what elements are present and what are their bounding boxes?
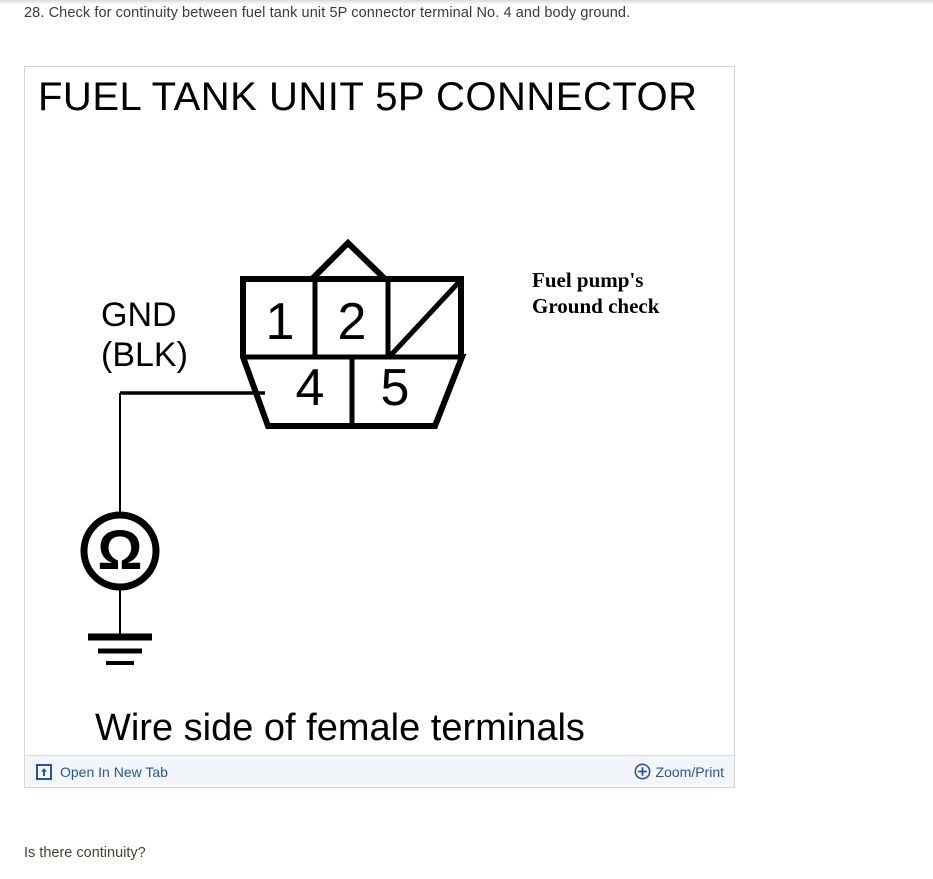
terminal-label-4: 4: [296, 359, 325, 417]
question-text: 28. Check for continuity between fuel ta…: [24, 5, 630, 21]
open-in-new-tab-label: Open In New Tab: [60, 764, 168, 780]
figure-toolbar: Open In New Tab Zoom/Print: [25, 755, 734, 787]
ohm-symbol: Ω: [98, 518, 143, 581]
chassis-ground-symbol: [88, 637, 152, 663]
answer-prompt: Is there continuity?: [24, 845, 146, 861]
ground-lead-wire: [120, 393, 265, 517]
figure-caption: Wire side of female terminals: [95, 707, 585, 750]
connector-diagram: FUEL TANK UNIT 5P CONNECTOR GND (BLK) Fu…: [25, 67, 734, 787]
zoom-print-label: Zoom/Print: [656, 764, 724, 780]
terminal-3-blocked-slash: [391, 282, 459, 355]
external-link-icon: [36, 764, 52, 780]
open-in-new-tab-button[interactable]: Open In New Tab: [36, 756, 168, 787]
connector-key-notch: [312, 243, 385, 279]
terminal-label-1: 1: [266, 293, 295, 351]
figure-card: FUEL TANK UNIT 5P CONNECTOR GND (BLK) Fu…: [24, 66, 735, 788]
terminal-label-5: 5: [381, 359, 410, 417]
zoom-print-button[interactable]: Zoom/Print: [634, 756, 724, 787]
plus-circle-icon: [634, 763, 651, 780]
diagram-vector-layer: 1 2 4 5 Ω: [25, 67, 734, 787]
terminal-label-2: 2: [338, 293, 367, 351]
